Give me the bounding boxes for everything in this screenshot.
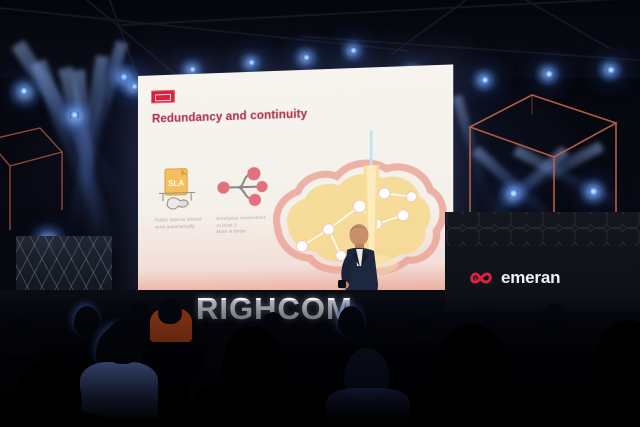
slide-caption-2: Enterprise connections At least 2 More i…: [216, 214, 287, 236]
svg-text:SLA: SLA: [168, 179, 184, 188]
projection-screen: Redundancy and continuity SLA: [138, 64, 453, 296]
stage-wall-right: [445, 212, 640, 312]
sponsor-logo: emeran: [468, 268, 560, 288]
brand-logo-red: [151, 90, 175, 104]
emeran-infinity-logo: [468, 269, 494, 287]
sla-handshake-icon: SLA: [155, 166, 199, 213]
audience-silhouettes: [0, 300, 640, 427]
network-nodes-icon: [216, 164, 269, 212]
sponsor-name: emeran: [501, 268, 560, 288]
stage-photo-scene: Redundancy and continuity SLA: [0, 0, 640, 427]
slide-caption-1: Public internet should work automaticall…: [155, 216, 217, 231]
truss-tower-left: [16, 236, 112, 294]
presentation-clicker: [338, 280, 346, 288]
hex-pattern: [445, 212, 640, 246]
